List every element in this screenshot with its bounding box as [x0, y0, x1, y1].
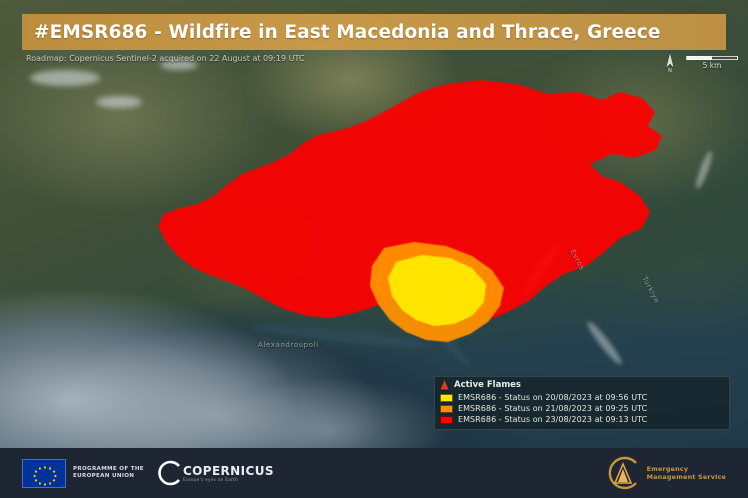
legend-row[interactable]: EMSR686 - Status on 23/08/2023 at 09:13 … [440, 414, 724, 425]
legend-row[interactable]: EMSR686 - Status on 20/08/2023 at 09:56 … [440, 392, 724, 403]
satellite-map-canvas[interactable]: Alexandroupoli Evros Turkiye #EMSR686 - … [0, 0, 748, 448]
scale-bar-label: 5 km [686, 61, 738, 70]
copernicus-wordmark: COPERNICUS [183, 464, 274, 478]
legend-row-label: EMSR686 - Status on 21/08/2023 at 09:25 … [458, 404, 647, 413]
legend-row[interactable]: EMSR686 - Status on 21/08/2023 at 09:25 … [440, 403, 724, 414]
svg-text:N: N [668, 68, 672, 72]
eu-caption: PROGRAMME OF THE EUROPEAN UNION [73, 466, 144, 480]
map-title-banner: #EMSR686 - Wildfire in East Macedonia an… [22, 14, 726, 50]
legend-swatch-red [440, 416, 453, 424]
cems-wordmark: Emergency Management Service [647, 465, 726, 481]
copernicus-arc-icon [155, 460, 181, 486]
scale-bar: 5 km [686, 56, 738, 70]
footer-left-group: PROGRAMME OF THE EUROPEAN UNION COPERNIC… [22, 459, 274, 488]
legend-row-label: EMSR686 - Status on 23/08/2023 at 09:13 … [458, 415, 647, 424]
legend-header: Active Flames [440, 380, 724, 390]
copernicus-tagline: Europe's eyes on Earth [183, 478, 274, 483]
legend-row-label: EMSR686 - Status on 20/08/2023 at 09:56 … [458, 393, 647, 402]
footer-right-group: Emergency Management Service [605, 455, 726, 491]
legend-panel[interactable]: Active Flames EMSR686 - Status on 20/08/… [434, 376, 730, 430]
footer-bar: PROGRAMME OF THE EUROPEAN UNION COPERNIC… [0, 448, 748, 498]
burn-area-yellow-20230820[interactable] [378, 252, 498, 332]
ridge-highlight [693, 150, 714, 190]
page-title: #EMSR686 - Wildfire in East Macedonia an… [34, 22, 661, 43]
north-arrow-icon: N [664, 52, 676, 72]
flame-icon [440, 380, 449, 390]
cloud-wisp [96, 96, 142, 108]
copernicus-logo: COPERNICUS Europe's eyes on Earth [155, 460, 274, 486]
legend-swatch-orange [440, 405, 453, 413]
map-screenshot: Alexandroupoli Evros Turkiye #EMSR686 - … [0, 0, 748, 498]
cloud-wisp [30, 70, 100, 86]
legend-title: Active Flames [454, 380, 521, 390]
legend-swatch-yellow [440, 394, 453, 402]
cems-line-1: Emergency [647, 465, 726, 473]
eu-flag-icon [22, 459, 66, 488]
cems-line-2: Management Service [647, 473, 726, 481]
cems-emblem-icon [605, 455, 641, 491]
place-label: Alexandroupoli [258, 341, 319, 349]
eu-caption-line-2: EUROPEAN UNION [73, 473, 144, 480]
scale-bar-ticks [686, 56, 738, 60]
eu-caption-line-1: PROGRAMME OF THE [73, 466, 144, 473]
acquisition-source-text: Roadmap: Copernicus Sentinel-2 acquired … [26, 54, 305, 63]
